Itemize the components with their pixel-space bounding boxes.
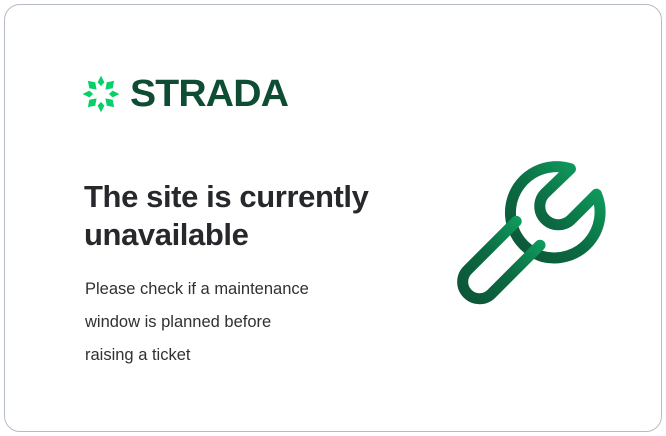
strada-asterisk-icon — [81, 74, 121, 114]
page-description: Please check if a maintenance window is … — [85, 273, 405, 372]
description-line: Please check if a maintenance — [85, 273, 405, 306]
brand-wordmark: STRADA — [130, 75, 288, 113]
brand-logo: STRADA — [81, 74, 284, 114]
status-card: STRADA The site is currently unavailable… — [4, 4, 662, 432]
description-line: window is planned before — [85, 306, 405, 339]
page-title: The site is currently unavailable — [84, 178, 414, 254]
wrench-icon — [455, 153, 625, 318]
description-line: raising a ticket — [85, 339, 405, 372]
error-page: STRADA The site is currently unavailable… — [0, 0, 666, 436]
